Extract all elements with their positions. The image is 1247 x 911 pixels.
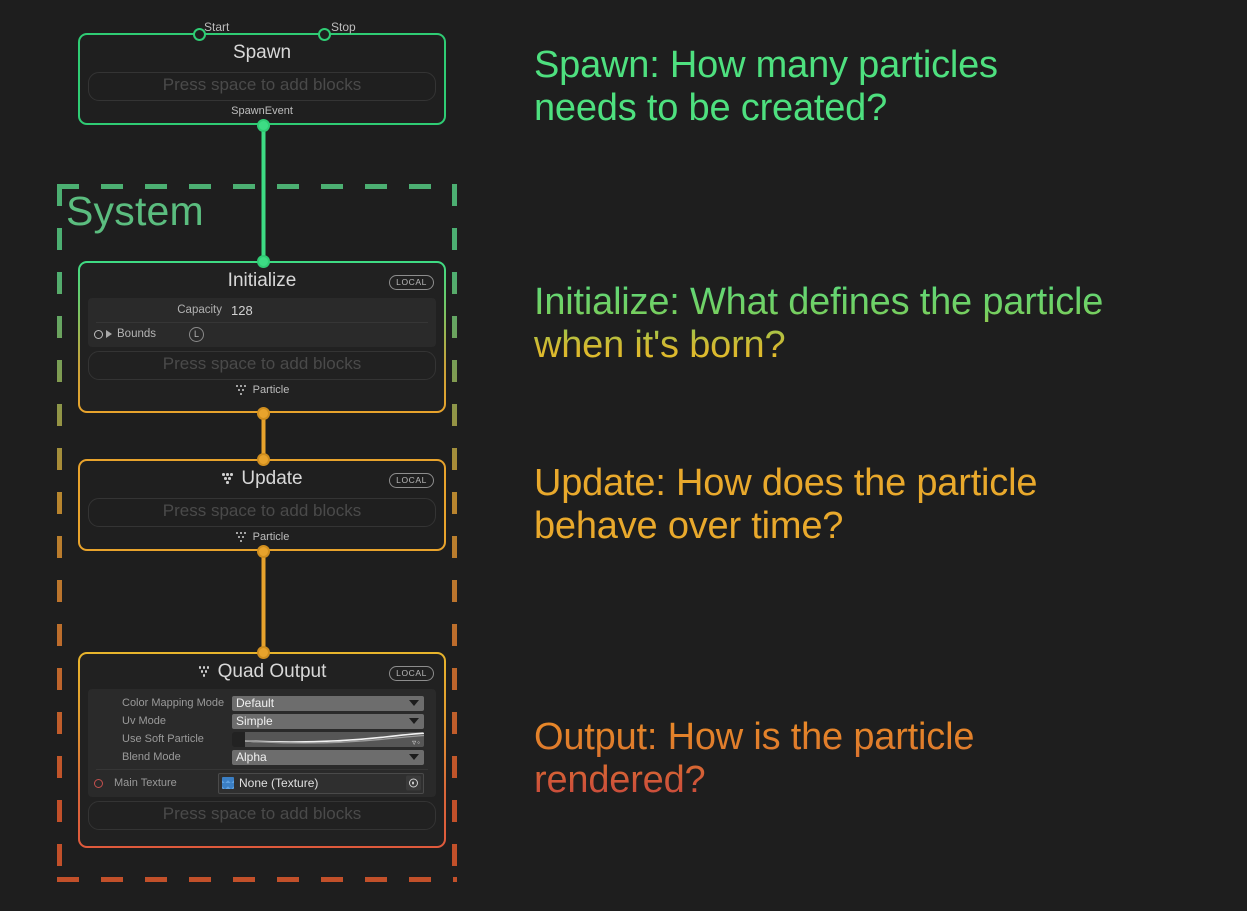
port-stop[interactable] [318, 28, 331, 41]
node-spawn-output-label: SpawnEvent [231, 106, 293, 117]
node-update-output-label: Particle [253, 532, 290, 543]
dropdown-value-blend-mode: Alpha [236, 750, 267, 764]
property-label-blend-mode: Blend Mode [94, 751, 232, 763]
node-initialize-title: Initialize LOCAL [86, 267, 438, 296]
node-quad-output[interactable]: Quad Output LOCAL Color Mapping Mode Def… [78, 652, 446, 848]
port-stop-label: Stop [331, 21, 356, 33]
group-title[interactable]: System [66, 191, 204, 232]
node-quad-output-title: Quad Output LOCAL [86, 658, 438, 687]
property-row-color-mapping-mode[interactable]: Color Mapping Mode Default [88, 694, 436, 712]
chevron-right-icon[interactable] [106, 330, 112, 338]
port-spawn-event-out[interactable] [257, 119, 270, 132]
group-border-left [57, 184, 62, 882]
property-row-main-texture[interactable]: Main Texture None (Texture) [88, 771, 436, 795]
annotation-output: Output: How is the particle rendered? [534, 716, 974, 802]
port-update-in[interactable] [257, 453, 270, 466]
property-row-capacity[interactable]: Capacity 128 [88, 300, 436, 321]
bounds-space-badge[interactable]: L [189, 327, 204, 342]
node-spawn-title: Spawn [86, 39, 438, 68]
particle-icon [235, 385, 248, 396]
curve-axis-marks: ▿◦ [412, 738, 421, 747]
bounds-port-icon[interactable] [94, 330, 103, 339]
node-spawn[interactable]: Spawn Press space to add blocks SpawnEve… [78, 33, 446, 125]
property-label-uv-mode: Uv Mode [94, 715, 232, 727]
node-update-title: Update LOCAL [86, 465, 438, 494]
port-initialize-in[interactable] [257, 255, 270, 268]
dropdown-value-uv-mode: Simple [236, 714, 273, 728]
node-quad-output-properties: Color Mapping Mode Default Uv Mode Simpl… [88, 689, 436, 797]
main-texture-port-icon[interactable] [94, 779, 103, 788]
curve-swatch [232, 732, 245, 747]
curve-field-use-soft-particle[interactable]: ▿◦ [232, 732, 424, 747]
node-update-output-flow[interactable]: Particle [86, 529, 438, 545]
node-initialize-add-blocks[interactable]: Press space to add blocks [88, 351, 436, 380]
property-label-use-soft-particle: Use Soft Particle [94, 733, 232, 745]
node-update[interactable]: Update LOCAL Press space to add blocks P… [78, 459, 446, 551]
port-start-label: Start [204, 21, 229, 33]
port-update-out[interactable] [257, 545, 270, 558]
dropdown-color-mapping-mode[interactable]: Default [232, 696, 424, 711]
property-divider [96, 322, 428, 323]
node-initialize[interactable]: Initialize LOCAL Capacity 128 Bounds L P… [78, 261, 446, 413]
property-row-uv-mode[interactable]: Uv Mode Simple [88, 712, 436, 730]
node-quad-output-add-blocks[interactable]: Press space to add blocks [88, 801, 436, 830]
object-picker-button[interactable] [406, 776, 421, 791]
object-field-main-texture[interactable]: None (Texture) [218, 773, 424, 794]
chevron-down-icon [409, 718, 419, 724]
property-value-capacity[interactable]: 128 [231, 304, 253, 317]
property-divider [96, 769, 428, 770]
node-graph-canvas[interactable]: System Spawn Press space to add blocks S… [0, 0, 1247, 911]
port-initialize-out[interactable] [257, 407, 270, 420]
annotation-spawn: Spawn: How many particles needs to be cr… [534, 44, 998, 130]
property-label-color-mapping-mode: Color Mapping Mode [94, 697, 232, 709]
chevron-down-icon [409, 754, 419, 760]
annotation-initialize: Initialize: What defines the particle wh… [534, 281, 1103, 367]
node-initialize-output-flow[interactable]: Particle [86, 382, 438, 398]
node-initialize-local-badge: LOCAL [389, 275, 434, 290]
dropdown-blend-mode[interactable]: Alpha [232, 750, 424, 765]
object-field-value-main-texture: None (Texture) [239, 776, 318, 790]
property-row-use-soft-particle[interactable]: Use Soft Particle ▿◦ [88, 730, 436, 748]
node-update-local-badge: LOCAL [389, 473, 434, 488]
node-spawn-output-flow[interactable]: SpawnEvent [86, 103, 438, 119]
node-spawn-add-blocks[interactable]: Press space to add blocks [88, 72, 436, 101]
node-initialize-properties: Capacity 128 Bounds L [88, 298, 436, 347]
node-quad-output-local-badge: LOCAL [389, 666, 434, 681]
chevron-down-icon [409, 700, 419, 706]
particle-icon [235, 532, 248, 543]
dropdown-uv-mode[interactable]: Simple [232, 714, 424, 729]
particle-icon [198, 666, 211, 677]
curve-graph-icon [245, 732, 424, 747]
annotation-update: Update: How does the particle behave ove… [534, 462, 1037, 548]
texture-icon [222, 777, 234, 789]
particle-icon [221, 473, 234, 484]
node-update-add-blocks[interactable]: Press space to add blocks [88, 498, 436, 527]
property-row-blend-mode[interactable]: Blend Mode Alpha [88, 748, 436, 766]
property-label-capacity: Capacity [94, 305, 231, 317]
property-label-main-texture: Main Texture [106, 777, 218, 789]
group-border-bottom [57, 877, 457, 882]
property-row-bounds[interactable]: Bounds L [88, 324, 436, 345]
dropdown-value-color-mapping-mode: Default [236, 696, 274, 710]
port-quad-output-in[interactable] [257, 646, 270, 659]
group-border-right [452, 184, 457, 882]
node-initialize-output-label: Particle [253, 385, 290, 396]
property-label-bounds: Bounds [117, 329, 156, 341]
